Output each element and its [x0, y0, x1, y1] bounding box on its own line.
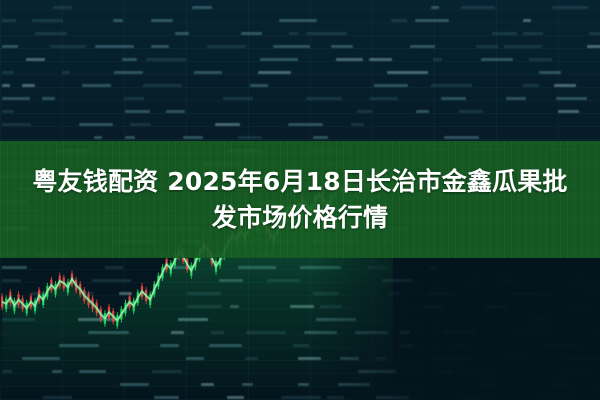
page-title: 粤友钱配资 2025年6月18日长治市金鑫瓜果批发市场价格行情	[26, 164, 574, 236]
title-container: 粤友钱配资 2025年6月18日长治市金鑫瓜果批发市场价格行情	[0, 141, 600, 258]
title-band: 粤友钱配资 2025年6月18日长治市金鑫瓜果批发市场价格行情	[0, 141, 600, 258]
screenshot-root: 粤友钱配资 2025年6月18日长治市金鑫瓜果批发市场价格行情	[0, 0, 600, 400]
